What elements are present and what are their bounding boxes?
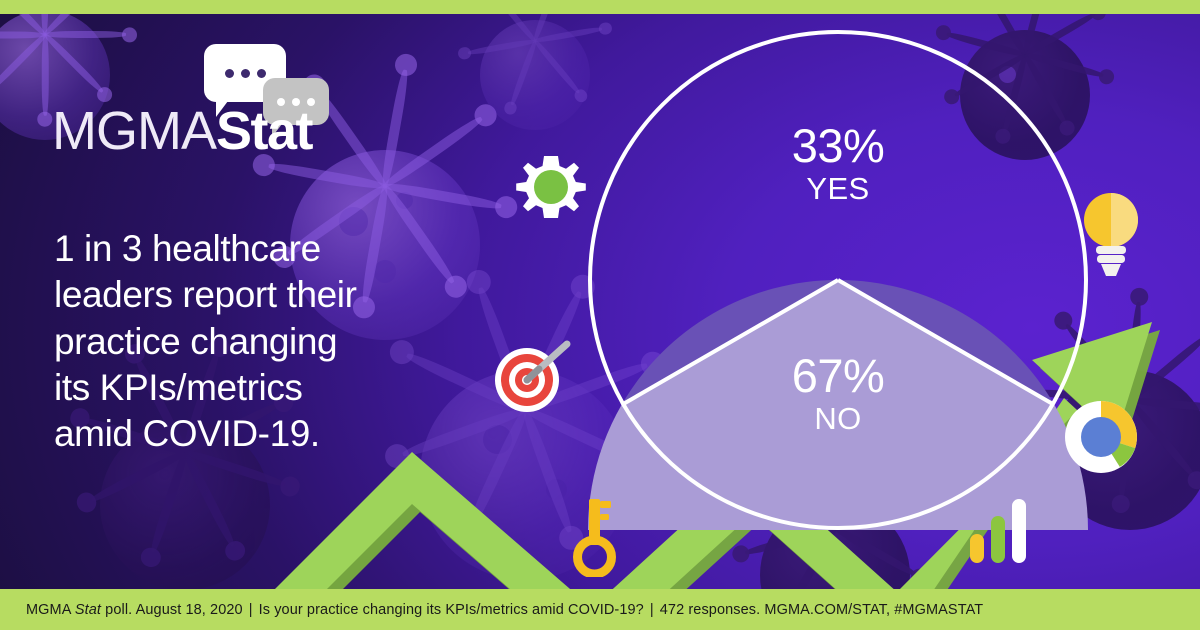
target-icon	[487, 336, 575, 416]
footer-source-suffix: poll. August 18, 2020	[101, 602, 243, 618]
headline-line-2: leaders report their	[54, 272, 474, 318]
headline-line-3: practice changing	[54, 319, 474, 365]
headline-line-1: 1 in 3 healthcare	[54, 226, 474, 272]
pie-chart-svg	[588, 30, 1088, 530]
footer-question: Is your practice changing its KPIs/metri…	[259, 602, 644, 618]
footer-separator-1: |	[243, 602, 259, 618]
headline: 1 in 3 healthcare leaders report their p…	[54, 226, 474, 457]
mgma-stat-logo: MGMAStat	[52, 44, 352, 174]
footer-source-italic: Stat	[75, 602, 101, 618]
pie-label-no: 67% NO	[708, 352, 968, 439]
footer-responses: 472 responses. MGMA.COM/STAT, #MGMASTAT	[660, 602, 984, 618]
pie-label-yes: 33% YES	[708, 122, 968, 209]
pie-value-yes: 33%	[708, 122, 968, 170]
top-accent-bar	[0, 0, 1200, 14]
headline-line-4: its KPIs/metrics	[54, 365, 474, 411]
pie-category-yes: YES	[708, 170, 968, 209]
footer-source-prefix: MGMA	[26, 602, 75, 618]
gear-icon	[513, 152, 589, 228]
logo-wordmark: MGMAStat	[52, 104, 312, 158]
donut-chart-icon	[1062, 398, 1140, 476]
logo-mgma-text: MGMA	[52, 101, 216, 161]
footer-separator-2: |	[644, 602, 660, 618]
footer-source-line: MGMA Stat poll. August 18, 2020|Is your …	[26, 602, 983, 618]
key-icon	[569, 497, 621, 577]
pie-category-no: NO	[708, 400, 968, 439]
logo-stat-text: Stat	[216, 101, 312, 161]
headline-line-5: amid COVID-19.	[54, 411, 474, 457]
lightbulb-icon	[1078, 190, 1144, 278]
footer-bar: MGMA Stat poll. August 18, 2020|Is your …	[0, 589, 1200, 630]
pie-chart: 33% YES 67% NO	[588, 30, 1088, 530]
bar-chart-icon	[968, 498, 1030, 564]
infographic-canvas: 33% YES 67% NO MGMAStat 1 in 3 healthcar…	[0, 0, 1200, 630]
pie-value-no: 67%	[708, 352, 968, 400]
